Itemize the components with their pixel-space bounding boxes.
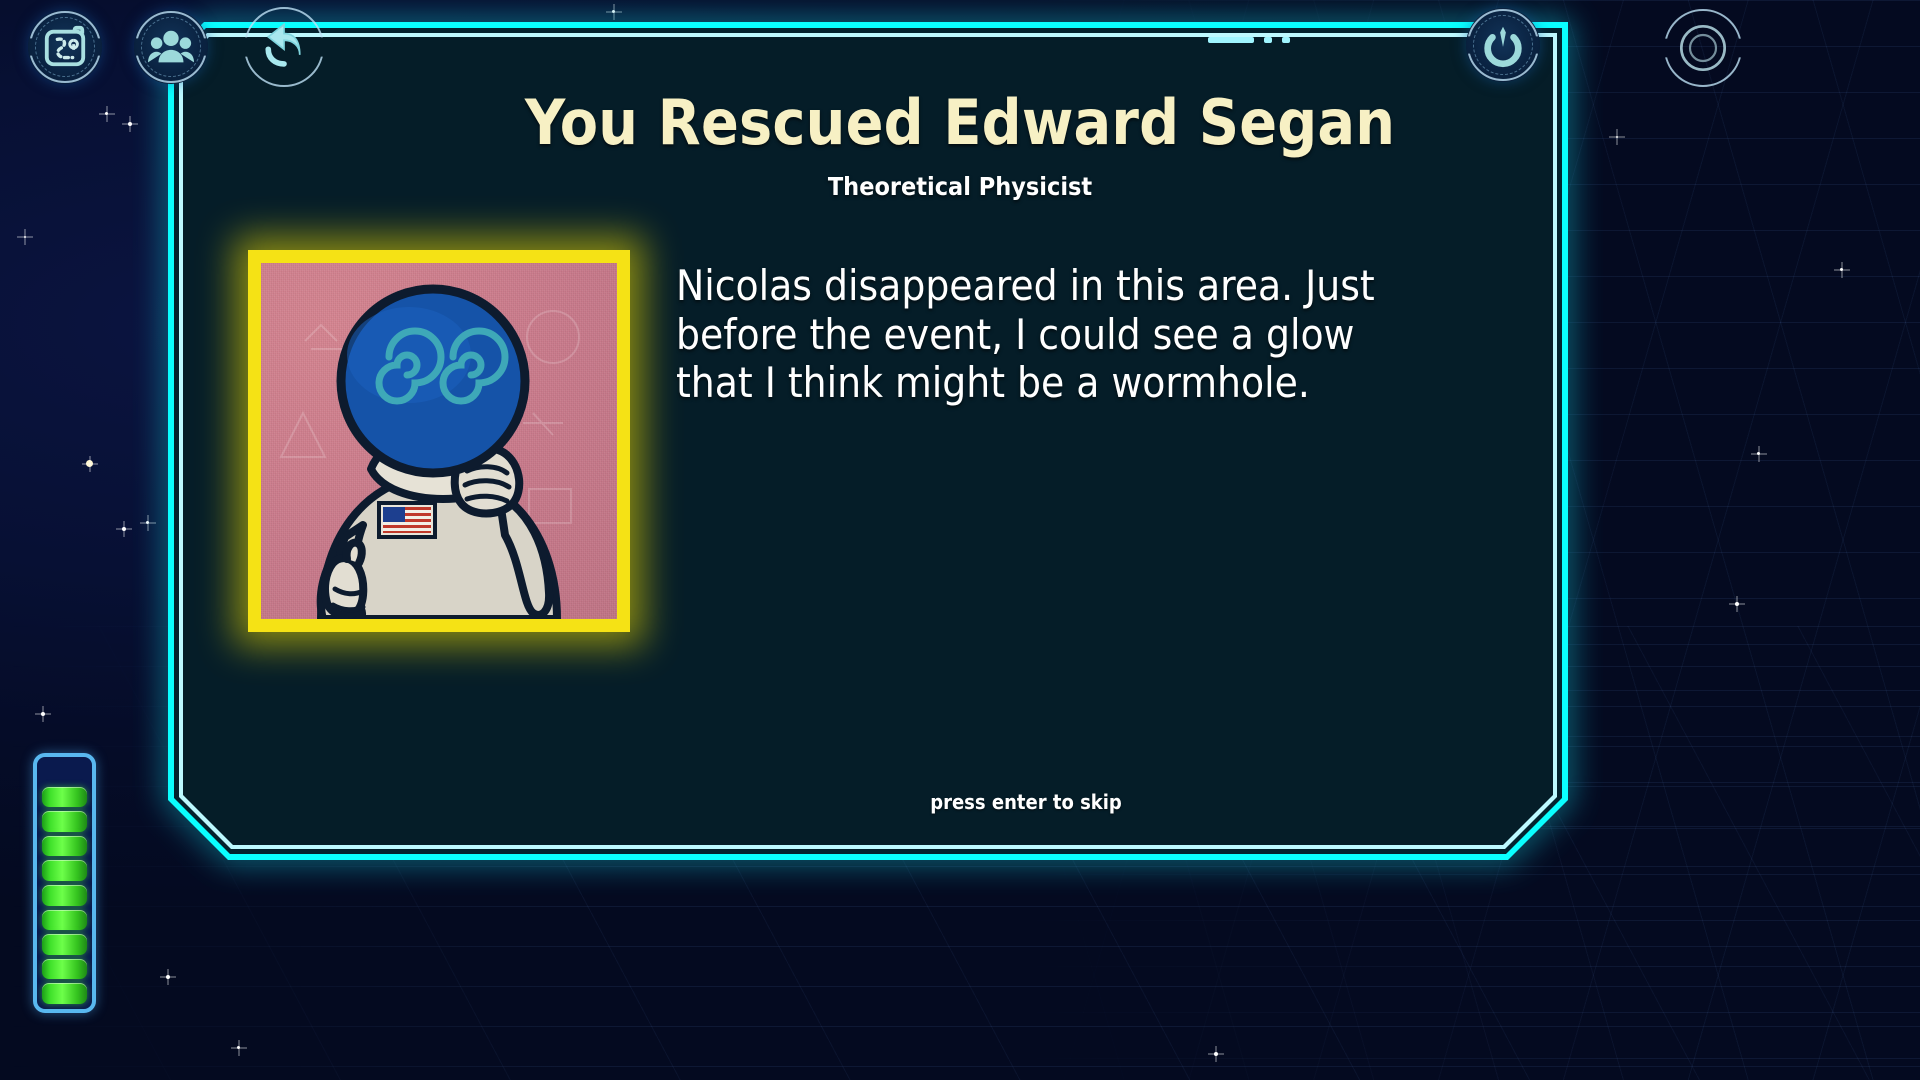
back-icon xyxy=(257,20,311,74)
battery-cell xyxy=(42,762,87,783)
dialog-content: You Rescued Edward Segan Theoretical Phy… xyxy=(0,0,1920,1080)
battery-cell xyxy=(42,885,87,906)
battery-meter[interactable] xyxy=(33,753,96,1013)
battery-cell xyxy=(42,959,87,980)
battery-cell xyxy=(42,910,87,931)
portrait-frame xyxy=(248,250,630,632)
dialog-body-text: Nicolas disappeared in this area. Just b… xyxy=(676,262,1376,408)
battery-cell xyxy=(42,934,87,955)
back-button[interactable] xyxy=(243,6,325,88)
map-button[interactable] xyxy=(28,10,102,84)
battery-cell xyxy=(42,836,87,857)
crew-icon xyxy=(148,24,194,70)
crew-button[interactable] xyxy=(134,10,208,84)
page-title: You Rescued Edward Segan xyxy=(0,86,1920,159)
target-icon xyxy=(1677,22,1729,74)
battery-cell xyxy=(42,983,87,1004)
character-role-subtitle: Theoretical Physicist xyxy=(0,172,1920,201)
target-button[interactable] xyxy=(1663,8,1743,88)
battery-cell xyxy=(42,787,87,808)
map-icon xyxy=(42,24,88,70)
character-portrait xyxy=(248,250,630,632)
battery-cell xyxy=(42,811,87,832)
astronaut-illustration xyxy=(261,263,617,619)
power-button[interactable] xyxy=(1466,8,1540,82)
power-icon xyxy=(1480,22,1526,68)
battery-cell xyxy=(42,860,87,881)
skip-hint[interactable]: press enter to skip xyxy=(676,790,1376,814)
